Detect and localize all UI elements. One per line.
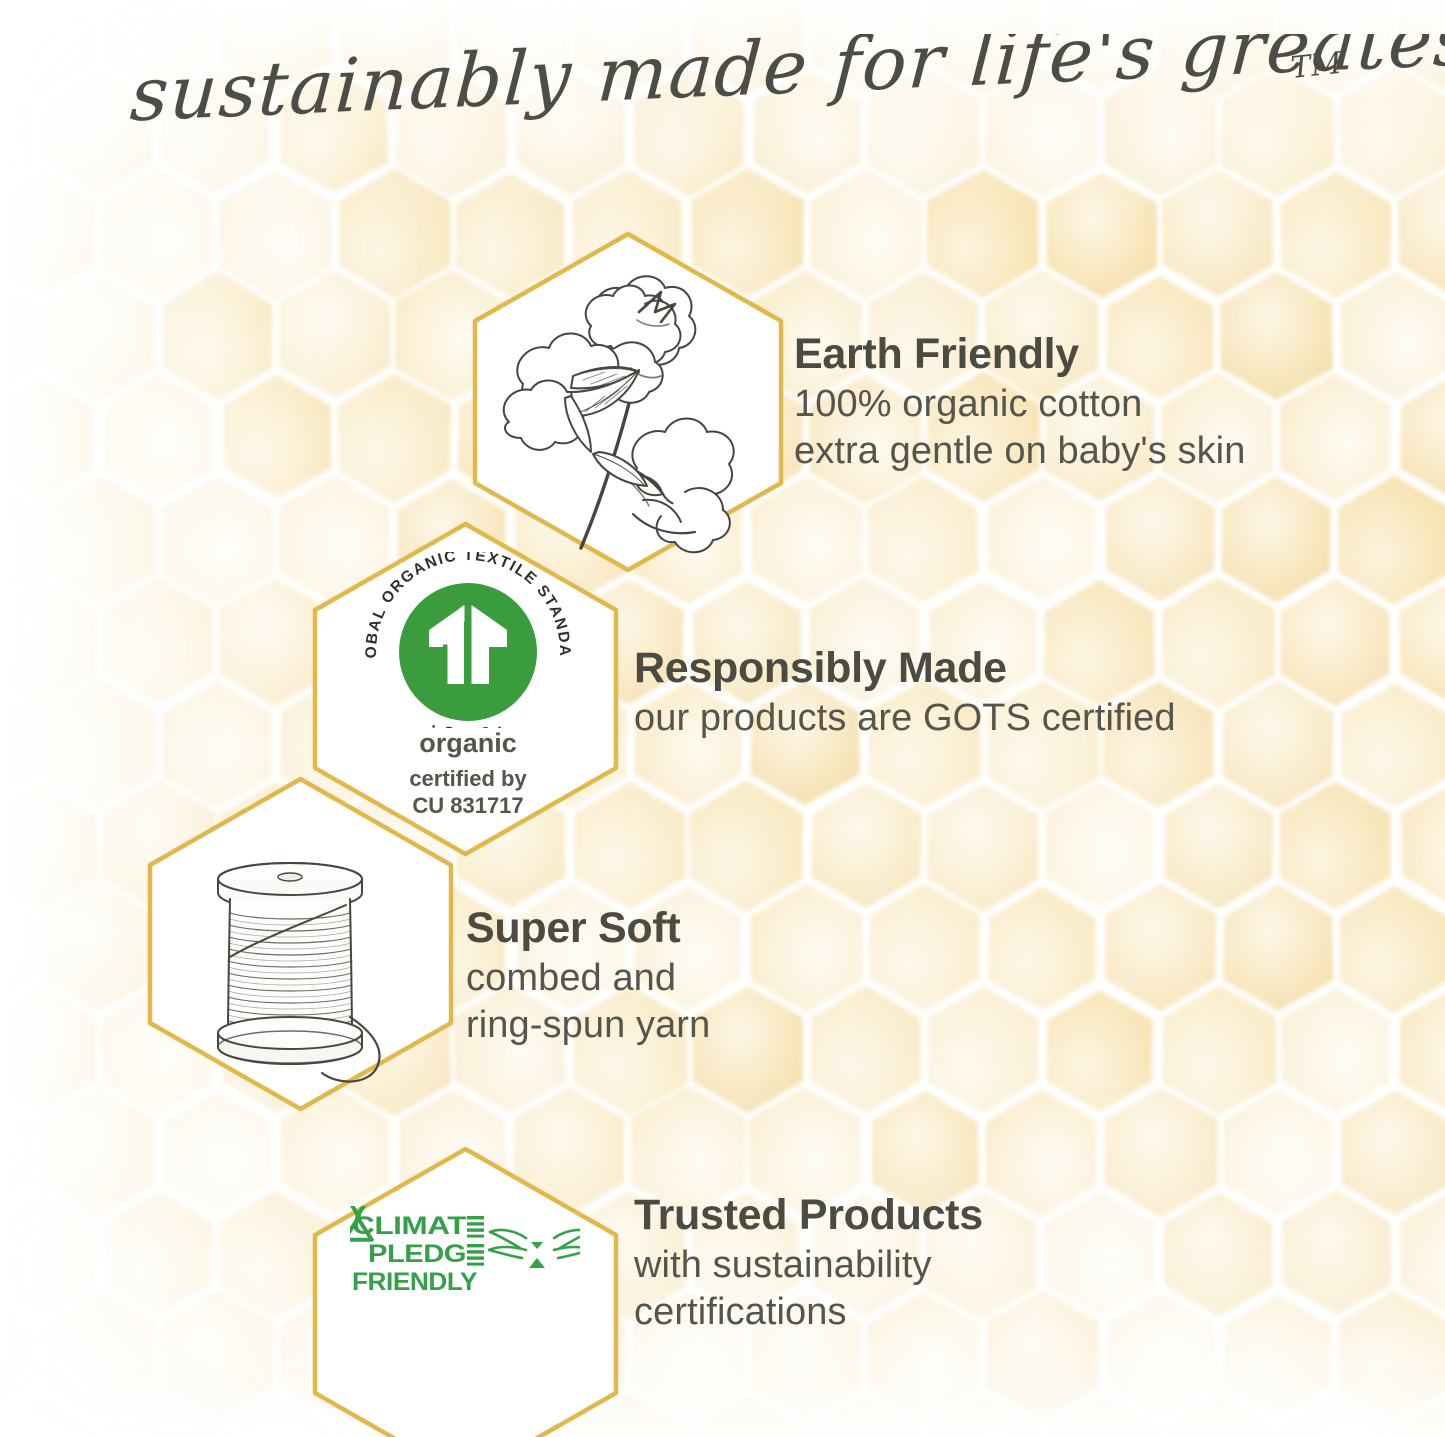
honeycomb-cell <box>1398 168 1445 297</box>
honeycomb-cell <box>0 171 95 296</box>
honeycomb-cell <box>1162 578 1275 709</box>
honeycomb-cell <box>105 374 213 499</box>
honeycomb-cell <box>989 476 1096 600</box>
honeycomb-cell <box>986 1290 1098 1420</box>
honeycomb-cell <box>928 784 1039 913</box>
honeycomb-cell <box>812 783 922 908</box>
honeycomb-cell <box>1280 579 1389 706</box>
honeycomb-cell <box>339 168 450 298</box>
headline-banner: sustainably made for life's greatest joy… <box>0 34 1445 144</box>
cpf-line2: PLEDG <box>368 1240 466 1268</box>
honeycomb-cell <box>1047 990 1153 1111</box>
honeycomb-cell <box>692 1395 801 1437</box>
gots-label-organic: organic <box>352 728 584 759</box>
cotton-boll-icon <box>487 256 772 556</box>
honeycomb-cell <box>1340 886 1445 1013</box>
honeycomb-cell <box>223 375 331 498</box>
honeycomb-cell <box>1341 684 1445 807</box>
honeycomb-cell <box>0 476 39 605</box>
honeycomb-cell <box>0 378 94 501</box>
honeycomb-cell <box>1163 985 1277 1115</box>
feature-line: 100% organic cotton <box>794 381 1245 427</box>
honeycomb-cell <box>1223 884 1333 1011</box>
honeycomb-cell <box>279 270 390 397</box>
honeycomb-cell <box>0 681 35 808</box>
honeycomb-cell <box>809 1394 920 1437</box>
honeycomb-cell <box>1341 272 1445 400</box>
feature-title: Responsibly Made <box>634 645 1176 691</box>
honeycomb-cell <box>1400 580 1445 705</box>
honeycomb-cell <box>1398 1394 1445 1437</box>
honeycomb-cell <box>219 170 332 300</box>
honeycomb-cell <box>1281 989 1390 1113</box>
honeycomb-cell <box>927 1394 1039 1437</box>
feature-text-responsibly-made: Responsibly Made our products are GOTS c… <box>634 645 1176 742</box>
honeycomb-cell <box>988 886 1095 1010</box>
feature-line: combed and <box>466 955 710 1001</box>
honeycomb-cell <box>1045 783 1154 908</box>
gots-logo: GLOBAL ORGANIC TEXTILE STANDARD · GOTS · <box>352 552 584 728</box>
honeycomb-cell <box>1281 1395 1390 1437</box>
feature-line: ring-spun yarn <box>466 1002 710 1048</box>
gots-code-line: CU 831717 <box>352 793 584 820</box>
honeycomb-cell <box>1222 477 1331 603</box>
honeycomb-cell <box>0 577 96 708</box>
honeycomb-cell <box>0 273 37 398</box>
gots-label-certified-by: certified by CU 831717 <box>352 766 584 820</box>
honeycomb-cell <box>1105 883 1216 1011</box>
feature-text-trusted-products: Trusted Products with sustainability cer… <box>634 1192 983 1335</box>
honeycomb-cell <box>0 783 97 912</box>
honeycomb-cell <box>0 1194 95 1317</box>
honeycomb-cell <box>1399 1191 1445 1318</box>
honeycomb-cell <box>1106 1293 1214 1418</box>
honeycomb-cell <box>811 986 921 1113</box>
honeycomb-cell <box>1045 1192 1154 1317</box>
honeycomb-cell <box>1338 476 1445 605</box>
honeycomb-cell <box>1224 1295 1331 1417</box>
honeycomb-cell <box>0 1393 97 1437</box>
cpf-line3: FRIENDLY <box>352 1268 478 1296</box>
honeycomb-cell <box>163 271 273 400</box>
feature-title: Super Soft <box>466 905 710 951</box>
feature-line: with sustainability <box>634 1242 983 1288</box>
honeycomb-cell <box>868 476 979 602</box>
honeycomb-cell <box>690 781 803 913</box>
honeycomb-cell <box>927 169 1039 298</box>
honeycomb-cell <box>0 1290 38 1421</box>
honeycomb-cell <box>43 274 155 402</box>
honeycomb-cell <box>1164 1192 1272 1316</box>
honeycomb-cell <box>1280 782 1391 910</box>
feature-line: extra gentle on baby's skin <box>794 428 1245 474</box>
honeycomb-cell <box>1223 1089 1332 1215</box>
honeycomb-cell <box>0 1090 36 1215</box>
honeycomb-cell <box>1400 988 1445 1115</box>
honeycomb-cell <box>162 1290 274 1420</box>
feature-text-super-soft: Super Soft combed and ring-spun yarn <box>466 905 710 1048</box>
honeycomb-cell <box>0 986 96 1112</box>
honeycomb-cell <box>1283 1190 1392 1315</box>
honeycomb-cell <box>928 987 1038 1114</box>
hourglass-sand <box>529 1242 545 1268</box>
honeycomb-cell <box>1341 1091 1445 1216</box>
feature-line: certifications <box>634 1289 983 1335</box>
honeycomb-cell <box>1162 170 1273 297</box>
honeycomb-cell <box>985 1090 1097 1218</box>
honeycomb-cell <box>100 168 214 300</box>
honeycomb-cell <box>1106 477 1215 601</box>
honeycomb-cell <box>103 577 213 703</box>
honeycomb-cell <box>1401 783 1445 908</box>
honeycomb-cell <box>1105 1088 1218 1217</box>
gots-certified-by-line: certified by <box>352 766 584 793</box>
feature-text-earth-friendly: Earth Friendly 100% organic cotton extra… <box>794 331 1245 474</box>
thread-spool-icon <box>190 855 415 1095</box>
infographic-canvas: sustainably made for life's greatest joy… <box>0 0 1445 1437</box>
honeycomb-cell <box>161 477 274 606</box>
honeycomb-cell <box>0 887 35 1009</box>
honeycomb-cell <box>1281 171 1391 298</box>
honeycomb-cell <box>1280 373 1391 500</box>
honeycomb-cell <box>101 1392 215 1437</box>
honeycomb-cell <box>1401 374 1445 499</box>
headline-script-text: sustainably made for life's greatest joy <box>128 34 1445 138</box>
honeycomb-cell <box>810 169 922 299</box>
trademark-symbol: TM <box>1289 46 1344 86</box>
honeycomb-cell <box>45 1291 157 1420</box>
honeycomb-cell <box>1165 783 1274 909</box>
honeycomb-cell <box>1047 1395 1156 1437</box>
climate-pledge-friendly-logo: CLIMAT PLEDG FRIENDLY <box>350 1206 580 1316</box>
honeycomb-cell <box>106 1191 213 1314</box>
honeycomb-cell <box>338 374 452 504</box>
honeycomb-cell <box>1047 173 1158 298</box>
feature-line: our products are GOTS certified <box>634 695 1176 741</box>
honeycomb-cell <box>1164 1396 1273 1437</box>
feature-title: Trusted Products <box>634 1192 983 1238</box>
cpf-striped-e <box>467 1216 484 1266</box>
honeycomb-cell <box>43 475 155 605</box>
feature-title: Earth Friendly <box>794 331 1245 377</box>
honeycomb-cell <box>751 884 863 1012</box>
honeycomb-cell <box>869 884 980 1011</box>
honeycomb-cell <box>1338 1290 1445 1419</box>
honeycomb-cell <box>1223 680 1333 809</box>
